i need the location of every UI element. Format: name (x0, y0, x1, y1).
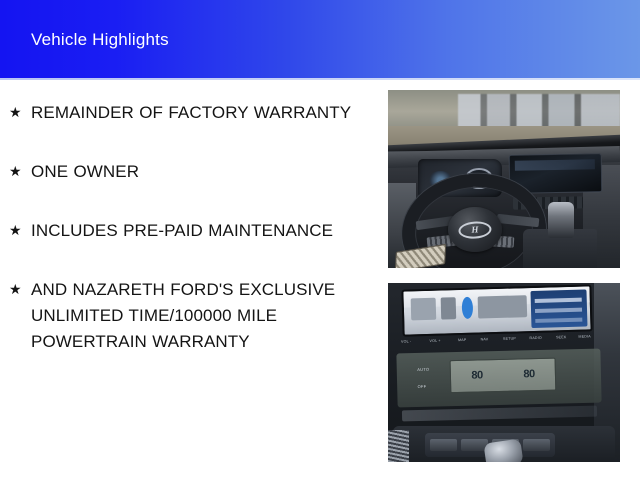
climate-control-panel: AUTO OFF 80 80 (397, 349, 602, 408)
infotainment-screen (401, 284, 592, 336)
vehicle-highlights-page: Vehicle Highlights ★ REMAINDER OF FACTOR… (0, 0, 640, 480)
star-bullet-icon: ★ (9, 279, 22, 299)
screen-chip (441, 297, 457, 320)
button-label: MAP (458, 338, 466, 342)
button-label: RADIO (530, 335, 542, 339)
auto-label: AUTO (417, 367, 429, 372)
highlight-item: ★ INCLUDES PRE-PAID MAINTENANCE (0, 218, 378, 244)
star-bullet-icon: ★ (9, 161, 22, 181)
header-divider (0, 78, 640, 80)
climate-lcd-display: 80 80 (450, 357, 557, 393)
star-bullet-icon: ★ (9, 220, 22, 240)
screen-info-icon (461, 296, 473, 318)
screen-chip (411, 297, 436, 320)
driver-temperature: 80 (472, 370, 484, 382)
highlight-text: ONE OWNER (31, 159, 376, 185)
interior-dashboard-photo[interactable]: H (388, 90, 620, 268)
button-label: NAV (481, 337, 489, 341)
button-label: SEEK (556, 335, 566, 339)
steering-wheel-hub: H (448, 207, 501, 252)
vehicle-highlights-list: ★ REMAINDER OF FACTORY WARRANTY ★ ONE OW… (0, 100, 378, 388)
off-label: OFF (418, 384, 427, 389)
star-bullet-icon: ★ (9, 102, 22, 122)
header-banner: Vehicle Highlights (0, 0, 640, 78)
button-label: VOL - (401, 339, 411, 343)
highlight-text: REMAINDER OF FACTORY WARRANTY (31, 100, 376, 126)
left-side-vent (388, 430, 409, 462)
console-button (523, 439, 550, 451)
center-console-photo[interactable]: VOL - VOL + MAP NAV SETUP RADIO SEEK MED… (388, 283, 620, 462)
center-console-photo-content: VOL - VOL + MAP NAV SETUP RADIO SEEK MED… (388, 283, 620, 462)
button-label: VOL + (430, 338, 441, 342)
console-button (430, 439, 457, 451)
button-label: MEDIA (579, 334, 591, 338)
screen-chip (478, 295, 527, 318)
button-label: SETUP (503, 336, 516, 340)
passenger-temperature: 80 (524, 368, 536, 380)
hyundai-logo-icon: H (458, 220, 492, 239)
highlight-text: INCLUDES PRE-PAID MAINTENANCE (31, 218, 376, 244)
highlight-text: AND NAZARETH FORD'S EXCLUSIVE UNLIMITED … (31, 277, 376, 355)
screen-side-panel (530, 289, 587, 328)
highlight-item: ★ REMAINDER OF FACTORY WARRANTY (0, 100, 378, 126)
highlight-item: ★ ONE OWNER (0, 159, 378, 185)
highlight-item: ★ AND NAZARETH FORD'S EXCLUSIVE UNLIMITE… (0, 277, 378, 355)
gear-shifter (548, 202, 574, 238)
interior-dashboard-photo-content: H (388, 90, 620, 268)
page-title: Vehicle Highlights (31, 30, 169, 50)
